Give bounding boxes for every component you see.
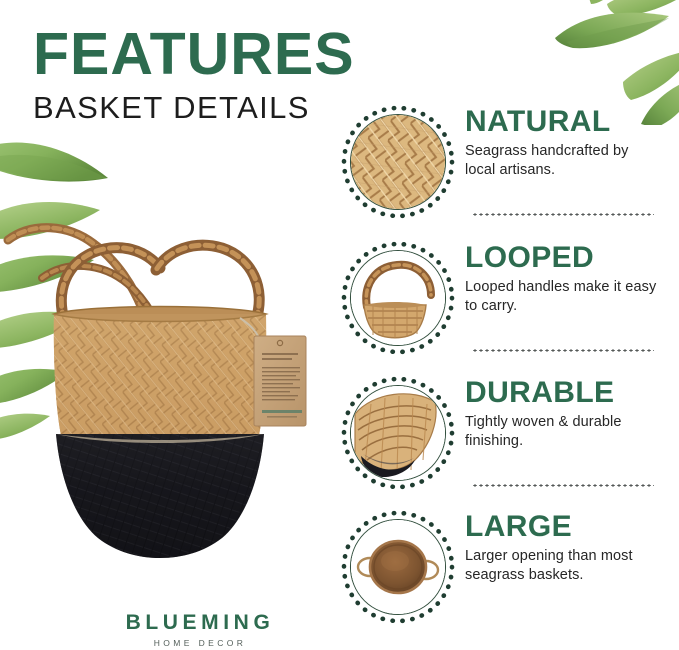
brand-logo: BLUEMING HOME DECOR — [0, 612, 400, 648]
feature-description: Larger opening than most seagrass basket… — [465, 547, 661, 586]
feature-badge-large — [338, 507, 458, 627]
feature-separator — [472, 213, 654, 216]
feature-title: LARGE — [465, 512, 679, 543]
product-photo — [0, 190, 350, 590]
basket-looped-handle-icon — [351, 251, 445, 345]
feature-description: Tightly woven & durable finishing. — [465, 413, 661, 452]
brand-tagline: HOME DECOR — [0, 639, 400, 648]
feature-title: LOOPED — [465, 243, 679, 274]
feature-item-looped: LOOPED Looped handles make it easy to ca… — [338, 236, 679, 348]
feature-text-looped: LOOPED Looped handles make it easy to ca… — [458, 236, 679, 316]
feature-description: Seagrass handcrafted by local artisans. — [465, 142, 661, 181]
feature-title: DURABLE — [465, 378, 679, 409]
feature-title: NATURAL — [465, 107, 679, 138]
page-title: FEATURES — [33, 26, 453, 83]
feature-item-large: LARGE Larger opening than most seagrass … — [338, 505, 679, 617]
woven-seagrass-texture-icon — [351, 115, 445, 209]
feature-text-durable: DURABLE Tightly woven & durable finishin… — [458, 371, 679, 451]
feature-description: Looped handles make it easy to carry. — [465, 278, 661, 317]
feature-item-durable: DURABLE Tightly woven & durable finishin… — [338, 371, 679, 483]
feature-separator — [472, 349, 654, 352]
feature-badge-durable — [338, 373, 458, 493]
basket-top-opening-icon — [351, 520, 445, 614]
feature-text-natural: NATURAL Seagrass handcrafted by local ar… — [458, 100, 679, 180]
feature-item-natural: NATURAL Seagrass handcrafted by local ar… — [338, 100, 679, 212]
feature-badge-looped — [338, 238, 458, 358]
feature-text-large: LARGE Larger opening than most seagrass … — [458, 505, 679, 585]
feature-badge-natural — [338, 102, 458, 222]
feature-separator — [472, 484, 654, 487]
brand-name: BLUEMING — [0, 612, 400, 633]
infographic-page: FEATURES BASKET DETAILS — [0, 0, 679, 650]
basket-weave-closeup-icon — [351, 386, 445, 480]
